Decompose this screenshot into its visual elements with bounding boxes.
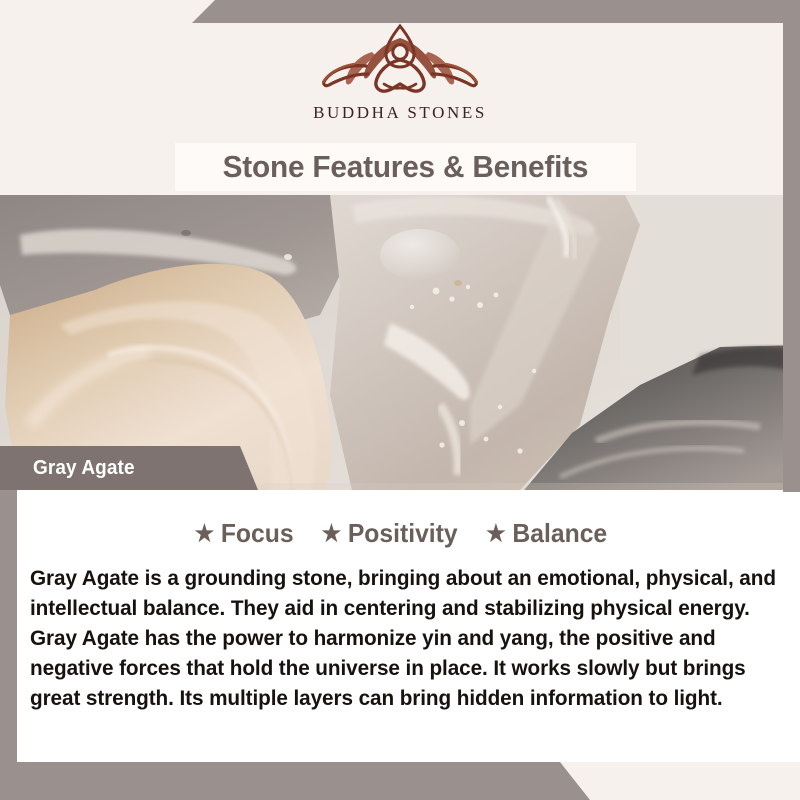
star-icon: ★	[194, 522, 214, 545]
decor-band-bottom	[0, 762, 800, 800]
title-banner: Stone Features & Benefits	[175, 143, 636, 191]
decor-band-left	[0, 490, 17, 800]
star-icon: ★	[321, 522, 341, 545]
stone-name: Gray Agate	[33, 457, 135, 480]
stone-photo	[0, 195, 800, 490]
stone-name-banner: Gray Agate	[0, 446, 258, 490]
content-panel: ★ Focus ★ Positivity ★ Balance Gray Agat…	[0, 490, 800, 762]
brand-name: BUDDHA STONES	[313, 103, 487, 123]
decor-band-right	[783, 0, 800, 492]
benefit-focus: ★ Focus	[194, 518, 293, 549]
brand-logo: BUDDHA STONES	[0, 22, 800, 123]
benefit-label: Balance	[512, 518, 607, 549]
benefits-row: ★ Focus ★ Positivity ★ Balance	[30, 518, 772, 549]
page-title: Stone Features & Benefits	[223, 149, 589, 185]
agate-stones-photo	[0, 195, 800, 490]
lotus-meditation-icon	[310, 22, 490, 100]
benefit-positivity: ★ Positivity	[321, 518, 457, 549]
benefit-balance: ★ Balance	[486, 518, 607, 549]
star-icon: ★	[486, 522, 506, 545]
infographic-page: BUDDHA STONES	[0, 0, 800, 800]
stone-description: Gray Agate is a grounding stone, bringin…	[30, 563, 788, 713]
benefit-label: Positivity	[348, 518, 458, 549]
benefit-label: Focus	[220, 518, 293, 549]
